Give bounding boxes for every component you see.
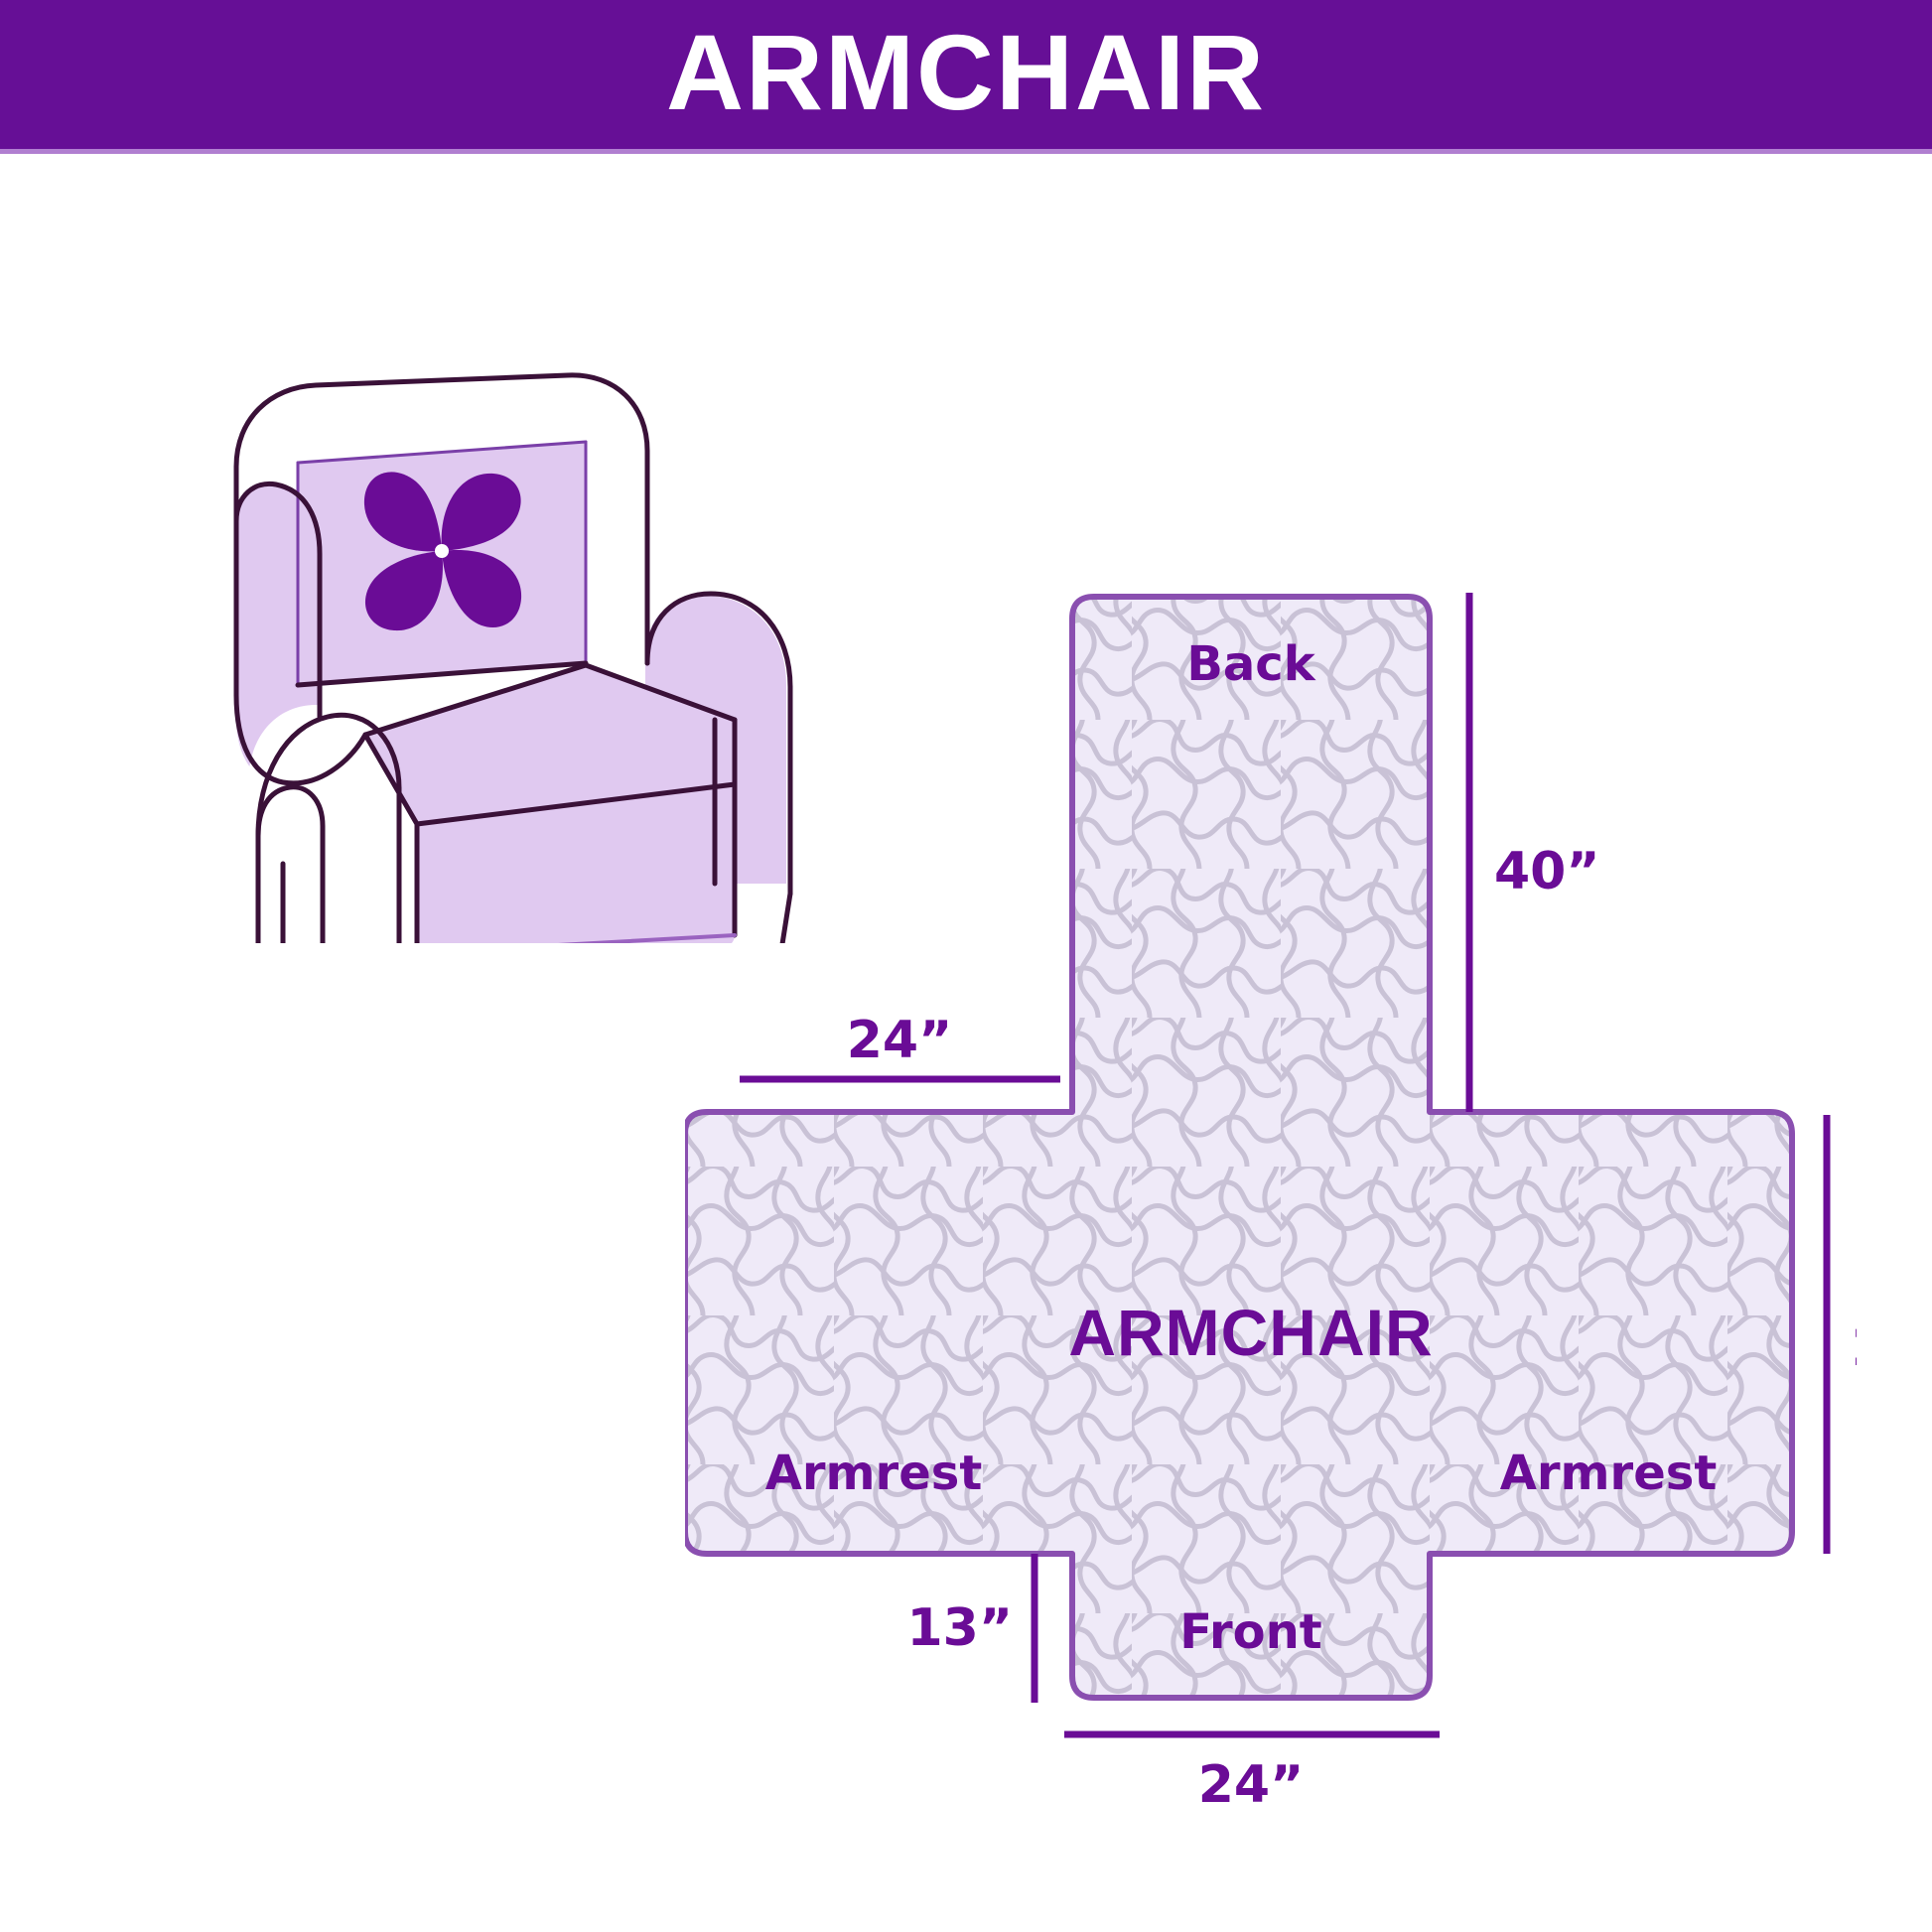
panel-label-armrest-left: Armrest	[765, 1446, 983, 1501]
dim-label-front-width: 24”	[1198, 1755, 1305, 1815]
dim-label-back-height: 40”	[1494, 842, 1600, 901]
content-area: Back ARMCHAIR Armrest Armrest Front 40” …	[0, 154, 1932, 1932]
dim-label-back-width: 24”	[847, 1011, 953, 1070]
panel-label-center: ARMCHAIR	[1068, 1296, 1433, 1369]
page-title: ARMCHAIR	[666, 19, 1266, 126]
panel-label-back: Back	[1186, 636, 1315, 692]
header-banner: ARMCHAIR	[0, 0, 1932, 149]
panel-label-armrest-right: Armrest	[1500, 1446, 1718, 1501]
panel-label-front: Front	[1179, 1604, 1321, 1660]
dim-label-front-height: 13”	[906, 1598, 1013, 1658]
dim-label-armrest-height: 23”	[1852, 1318, 1857, 1378]
cross-shape	[685, 597, 1792, 1698]
slipcover-layout-diagram: Back ARMCHAIR Armrest Armrest Front 40” …	[685, 571, 1857, 1921]
